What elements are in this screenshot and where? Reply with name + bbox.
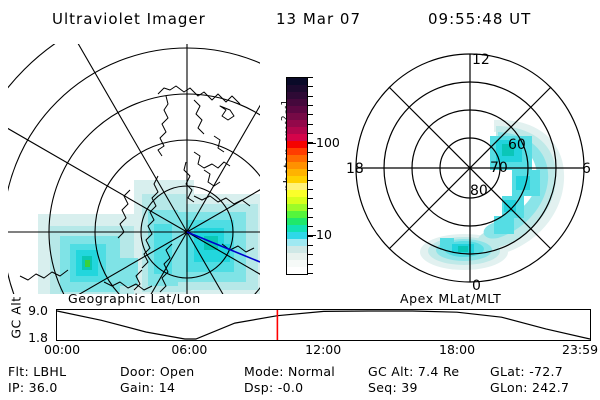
colorbar-minor-tick [307,245,313,246]
colorbar-minor-tick [307,114,313,115]
observation-date: 13 Mar 07 [276,10,361,28]
colorbar-swatch-16 [287,190,307,197]
mlt-spokes [356,54,584,282]
colorbar-minor-tick [307,86,313,87]
left-panel-title: Geographic Lat/Lon [68,291,201,306]
strip-xtick-18:00: 18:00 [439,344,475,357]
colorbar-tick-label-10: 10 [316,229,332,242]
colorbar-minor-tick [307,161,313,162]
colorbar-minor-tick [307,198,313,199]
strip-plot-frame [56,309,591,341]
colorbar-minor-tick [307,236,313,237]
status-panel: Flt: LBHL IP: 36.0 Door: Open Gain: 14 M… [0,364,600,398]
colorbar-swatch-6 [287,120,307,127]
aurora-emission-right [420,120,564,270]
colorbar-gradient [286,77,308,275]
mlt-label-12: 12 [472,52,490,68]
apex-polar-plot: 12 18 6 0 60 70 80 [344,40,596,294]
colorbar-swatch-5 [287,113,307,120]
colorbar-major-tick-10 [307,235,316,236]
colorbar-swatch-23 [287,239,307,246]
colorbar-minor-tick [307,133,313,134]
colorbar-minor-tick [307,180,313,181]
status-glon: GLon: 242.7 [490,380,569,395]
mlat-label-60: 60 [508,137,526,153]
orbit-altitude-strip: GC Alt Geographic Lat/Lon Apex MLat/MLT … [0,292,600,358]
status-flt: Flt: LBHL [8,364,66,379]
colorbar-swatch-21 [287,225,307,232]
colorbar-minor-tick [307,105,313,106]
colorbar-swatch-3 [287,99,307,106]
colorbar-swatch-17 [287,197,307,204]
colorbar-swatch-10 [287,148,307,155]
colorbar: photon cm-2s-1 10010 [262,60,348,290]
status-mode: Mode: Normal [244,364,335,379]
colorbar-minor-tick [307,208,313,209]
header-bar: Ultraviolet Imager 13 Mar 07 09:55:48 UT [0,6,600,32]
colorbar-minor-tick [307,170,313,171]
colorbar-swatch-1 [287,85,307,92]
mlat-label-80: 80 [470,183,488,199]
colorbar-tick-label-100: 100 [316,136,340,149]
colorbar-swatch-15 [287,183,307,190]
strip-ytick-high: 9.0 [14,305,48,318]
geographic-polar-plot [8,44,260,294]
colorbar-swatch-25 [287,253,307,260]
colorbar-swatch-0 [287,78,307,85]
colorbar-swatch-22 [287,232,307,239]
uvi-display: Ultraviolet Imager 13 Mar 07 09:55:48 UT [0,0,600,400]
colorbar-swatch-26 [287,260,307,267]
status-ip: IP: 36.0 [8,380,58,395]
colorbar-minor-tick [307,217,313,218]
colorbar-swatch-27 [287,267,307,274]
right-panel-title: Apex MLat/MLT [400,291,501,306]
colorbar-swatch-24 [287,246,307,253]
strip-xtick-12:00: 12:00 [305,344,341,357]
status-dsp: Dsp: -0.0 [244,380,303,395]
colorbar-swatch-20 [287,218,307,225]
mlat-label-70: 70 [490,160,508,176]
colorbar-minor-tick [307,264,313,265]
colorbar-swatch-14 [287,176,307,183]
colorbar-minor-tick [307,96,313,97]
colorbar-minor-tick [307,254,313,255]
status-gain: Gain: 14 [120,380,175,395]
colorbar-swatch-18 [287,204,307,211]
instrument-title: Ultraviolet Imager [52,10,206,28]
status-seq: Seq: 39 [368,380,418,395]
strip-xtick-00:00: 00:00 [44,344,80,357]
strip-ytick-low: 1.8 [14,332,48,345]
colorbar-swatch-19 [287,211,307,218]
strip-xtick-23:59: 23:59 [562,344,598,357]
colorbar-minor-tick [307,189,313,190]
colorbar-swatch-9 [287,141,307,148]
colorbar-swatch-2 [287,92,307,99]
status-glat: GLat: -72.7 [490,364,563,379]
colorbar-minor-tick [307,77,313,78]
strip-xtick-06:00: 06:00 [171,344,207,357]
status-door: Door: Open [120,364,194,379]
colorbar-minor-tick [307,273,313,274]
colorbar-swatch-11 [287,155,307,162]
colorbar-swatch-7 [287,127,307,134]
mlt-label-6: 6 [582,161,591,177]
colorbar-swatch-12 [287,162,307,169]
mlt-label-18: 18 [346,161,364,177]
colorbar-minor-tick [307,152,313,153]
colorbar-swatch-8 [287,134,307,141]
colorbar-major-tick-100 [307,143,316,144]
colorbar-minor-tick [307,124,313,125]
altitude-curve [57,311,590,339]
colorbar-minor-tick [307,226,313,227]
colorbar-swatch-4 [287,106,307,113]
status-gcalt: GC Alt: 7.4 Re [368,364,459,379]
observation-time: 09:55:48 UT [428,10,531,28]
colorbar-swatch-13 [287,169,307,176]
